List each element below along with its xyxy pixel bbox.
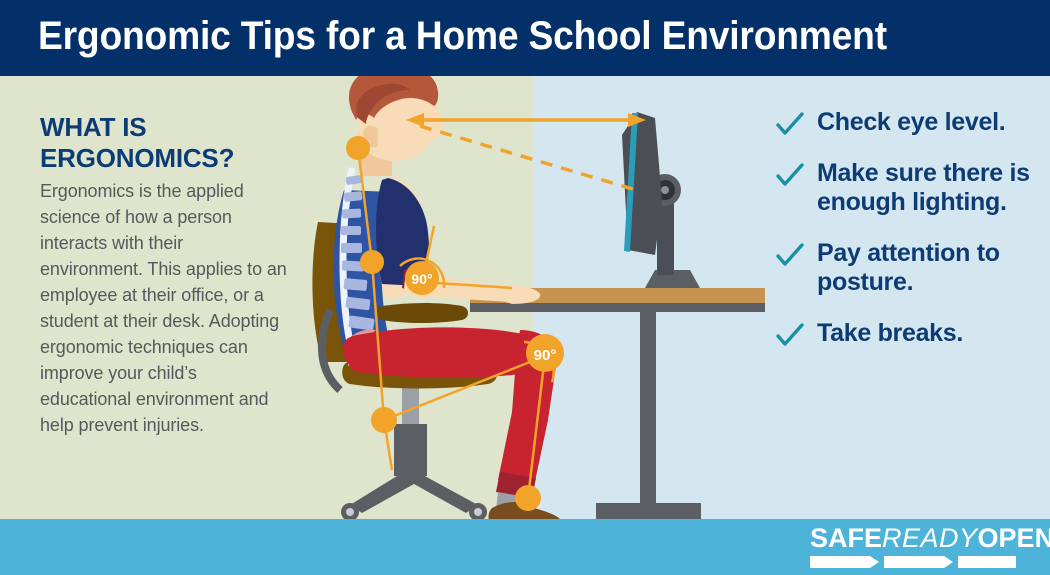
tip-label: Make sure there is enough lighting. (817, 159, 1037, 217)
tips-list: Check eye level. Make sure there is enou… (775, 108, 1037, 370)
check-icon (775, 161, 805, 191)
definition-panel: WHAT IS ERGONOMICS? Ergonomics is the ap… (40, 112, 290, 438)
list-item: Pay attention to posture. (775, 239, 1037, 297)
header-bar: Ergonomic Tips for a Home School Environ… (0, 0, 1050, 76)
logo-word-open: OPEN (978, 523, 1050, 553)
logo-arrow-3 (958, 556, 1016, 568)
tip-label: Pay attention to posture. (817, 239, 1037, 297)
check-icon (775, 321, 805, 351)
logo-arrow-bars (810, 556, 1024, 568)
logo-arrow-2 (884, 556, 944, 568)
list-item: Take breaks. (775, 319, 1037, 348)
tip-label: Take breaks. (817, 319, 1037, 348)
logo-word-ready: READY (882, 523, 978, 553)
logo-wordmark: SAFEREADYOPEN (810, 524, 1028, 552)
list-item: Make sure there is enough lighting. (775, 159, 1037, 217)
page-title: Ergonomic Tips for a Home School Environ… (38, 14, 887, 59)
definition-heading: WHAT IS ERGONOMICS? (40, 112, 290, 174)
tip-label: Check eye level. (817, 108, 1037, 137)
logo-word-safe: SAFE (810, 523, 882, 553)
safe-ready-open-logo: SAFEREADYOPEN (810, 524, 1028, 568)
list-item: Check eye level. (775, 108, 1037, 137)
logo-arrow-1 (810, 556, 870, 568)
definition-body: Ergonomics is the applied science of how… (40, 178, 290, 438)
check-icon (775, 241, 805, 271)
check-icon (775, 110, 805, 140)
infographic-poster: 90° 90° Ergonomic Tips for a Home School… (0, 0, 1050, 575)
